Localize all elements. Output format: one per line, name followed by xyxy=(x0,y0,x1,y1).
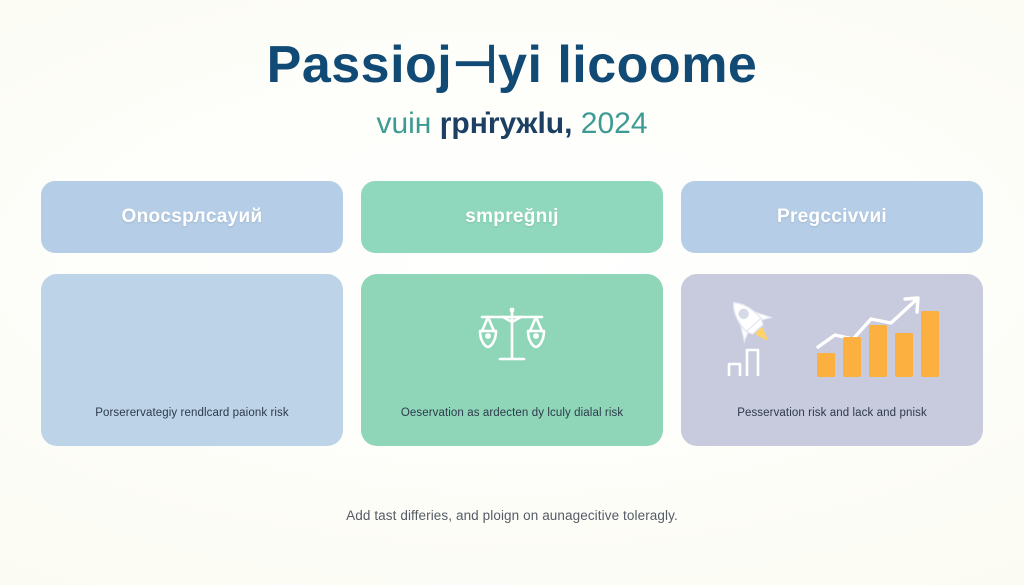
content-card-1[interactable]: Porserervategiy rendlcard paionk risk xyxy=(41,274,343,446)
content-card-1-caption: Porserervategiy rendlcard paionk risk xyxy=(41,407,343,419)
category-pill-2[interactable]: smpreğnıj xyxy=(361,181,663,253)
content-card-row: Porserervategiy rendlcard paionk risk xyxy=(41,274,983,446)
content-card-2[interactable]: Oeservation as ardecten dy lculy dialal … xyxy=(361,274,663,446)
subtitle-segment-3: 2024 xyxy=(581,107,648,140)
category-pill-row: Onocsрлcaуий smpreğnıj Pregccivvиi xyxy=(41,181,983,253)
rocket-icon xyxy=(713,292,787,378)
category-pill-3-label: Pregccivvиi xyxy=(777,206,887,228)
category-pill-1-label: Onocsрлcaуий xyxy=(122,206,263,228)
content-card-2-caption: Oeservation as ardecten dy lculy dialal … xyxy=(361,407,663,419)
category-pill-2-label: smpreğnıj xyxy=(465,206,559,228)
balance-scale-icon xyxy=(473,302,551,368)
page-title: Passioj⊣yi licoome xyxy=(0,38,1024,93)
category-pill-1[interactable]: Onocsрлcaуий xyxy=(41,181,343,253)
subtitle-segment-2: ɼpн̇ryжlu, xyxy=(440,107,573,140)
content-card-3-caption: Pesservation risk and lack and pnisk xyxy=(681,407,983,419)
content-card-3-art xyxy=(681,274,983,382)
slide-canvas: Passioj⊣yi licoome vuiн ɼpн̇ryжlu, 2024 … xyxy=(0,0,1024,585)
content-card-3[interactable]: Pesservation risk and lack and pnisk xyxy=(681,274,983,446)
growth-bar-chart-icon xyxy=(813,291,951,379)
title-block: Passioj⊣yi licoome vuiн ɼpн̇ryжlu, 2024 xyxy=(0,38,1024,140)
category-pill-3[interactable]: Pregccivvиi xyxy=(681,181,983,253)
page-subtitle: vuiн ɼpн̇ryжlu, 2024 xyxy=(0,107,1024,140)
content-card-1-art xyxy=(41,274,343,382)
subtitle-segment-1: vuiн xyxy=(376,107,431,140)
footer-note: Add tast differies, and ploign on aunage… xyxy=(0,508,1024,523)
content-card-2-art xyxy=(361,274,663,382)
